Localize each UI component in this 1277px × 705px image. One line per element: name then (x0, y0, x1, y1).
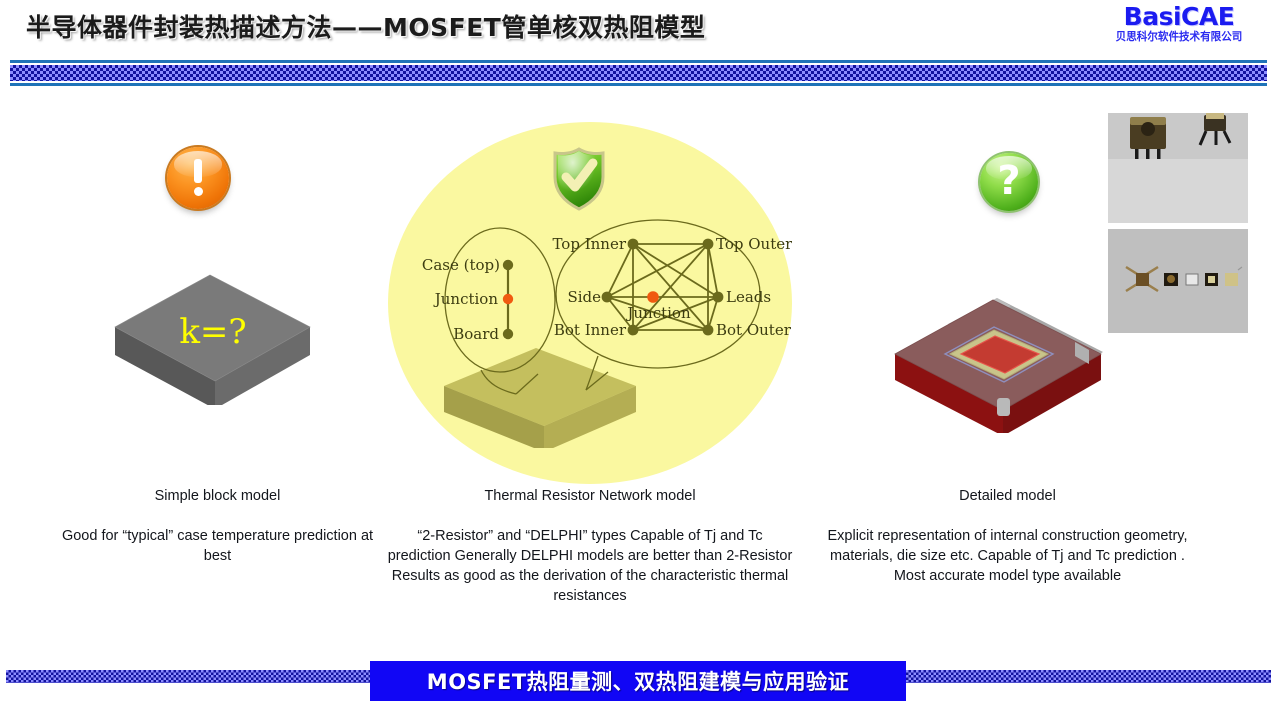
exclamation-stem (194, 159, 202, 183)
middle-column-heading: Thermal Resistor Network model (420, 487, 760, 505)
label-bot-inner: Bot Inner (554, 321, 627, 339)
header-divider (10, 60, 1267, 86)
node-bot-outer (703, 325, 714, 336)
node-junction-delphi (647, 291, 659, 303)
right-column-body: Explicit representation of internal cons… (820, 526, 1195, 586)
node-leads (713, 292, 724, 303)
label-junction-delphi: Junction (625, 304, 691, 322)
photo-bare-dies-art (1108, 229, 1248, 333)
warning-exclamation-icon (167, 147, 229, 209)
node-top-inner (628, 239, 639, 250)
brand-logo-subtitle: 贝思科尔软件技术有限公司 (1106, 31, 1252, 42)
label-side: Side (567, 288, 601, 306)
node-junction-2r (503, 294, 513, 304)
thermal-resistor-network-diagram: Case (top) Junction Board Top Inner Top … (388, 122, 792, 484)
question-mark-glyph: ? (980, 158, 1038, 204)
photo-to220-packages (1108, 113, 1248, 223)
left-column-heading: Simple block model (60, 487, 375, 505)
simple-block-3d: k=? (110, 255, 315, 405)
photo-to220-art (1108, 113, 1248, 223)
footer-banner: MOSFET热阻量测、双热阻建模与应用验证 (370, 661, 906, 701)
left-column-body: Good for “typical” case temperature pred… (60, 526, 375, 566)
label-case-top: Case (top) (422, 256, 500, 274)
divider-checker-band (10, 63, 1267, 83)
middle-column-body: “2-Resistor” and “DELPHI” types Capable … (385, 526, 795, 606)
exclamation-dot (194, 187, 203, 196)
label-top-inner: Top Inner (552, 235, 626, 253)
detailed-package-3d (893, 268, 1108, 433)
node-case-top (503, 260, 513, 270)
brand-logo-name: BasiCAE (1103, 4, 1255, 29)
right-column-heading: Detailed model (840, 487, 1175, 505)
label-top-outer: Top Outer (716, 235, 792, 253)
label-junction-2r: Junction (433, 290, 499, 308)
footer-banner-text: MOSFET热阻量测、双热阻建模与应用验证 (427, 666, 849, 696)
node-board (503, 329, 513, 339)
node-side (602, 292, 613, 303)
brand-logo: BasiCAE 贝思科尔软件技术有限公司 (1103, 4, 1255, 42)
page-title: 半导体器件封装热描述方法——MOSFET管单核双热阻模型 (26, 8, 705, 44)
label-bot-outer: Bot Outer (716, 321, 792, 339)
node-top-outer (703, 239, 714, 250)
label-board: Board (453, 325, 499, 343)
photo-bare-dies (1108, 229, 1248, 333)
block-k-label: k=? (179, 312, 246, 352)
label-leads: Leads (726, 288, 771, 306)
divider-line-bottom (10, 83, 1267, 86)
green-question-icon: ? (980, 153, 1038, 211)
node-bot-inner (628, 325, 639, 336)
